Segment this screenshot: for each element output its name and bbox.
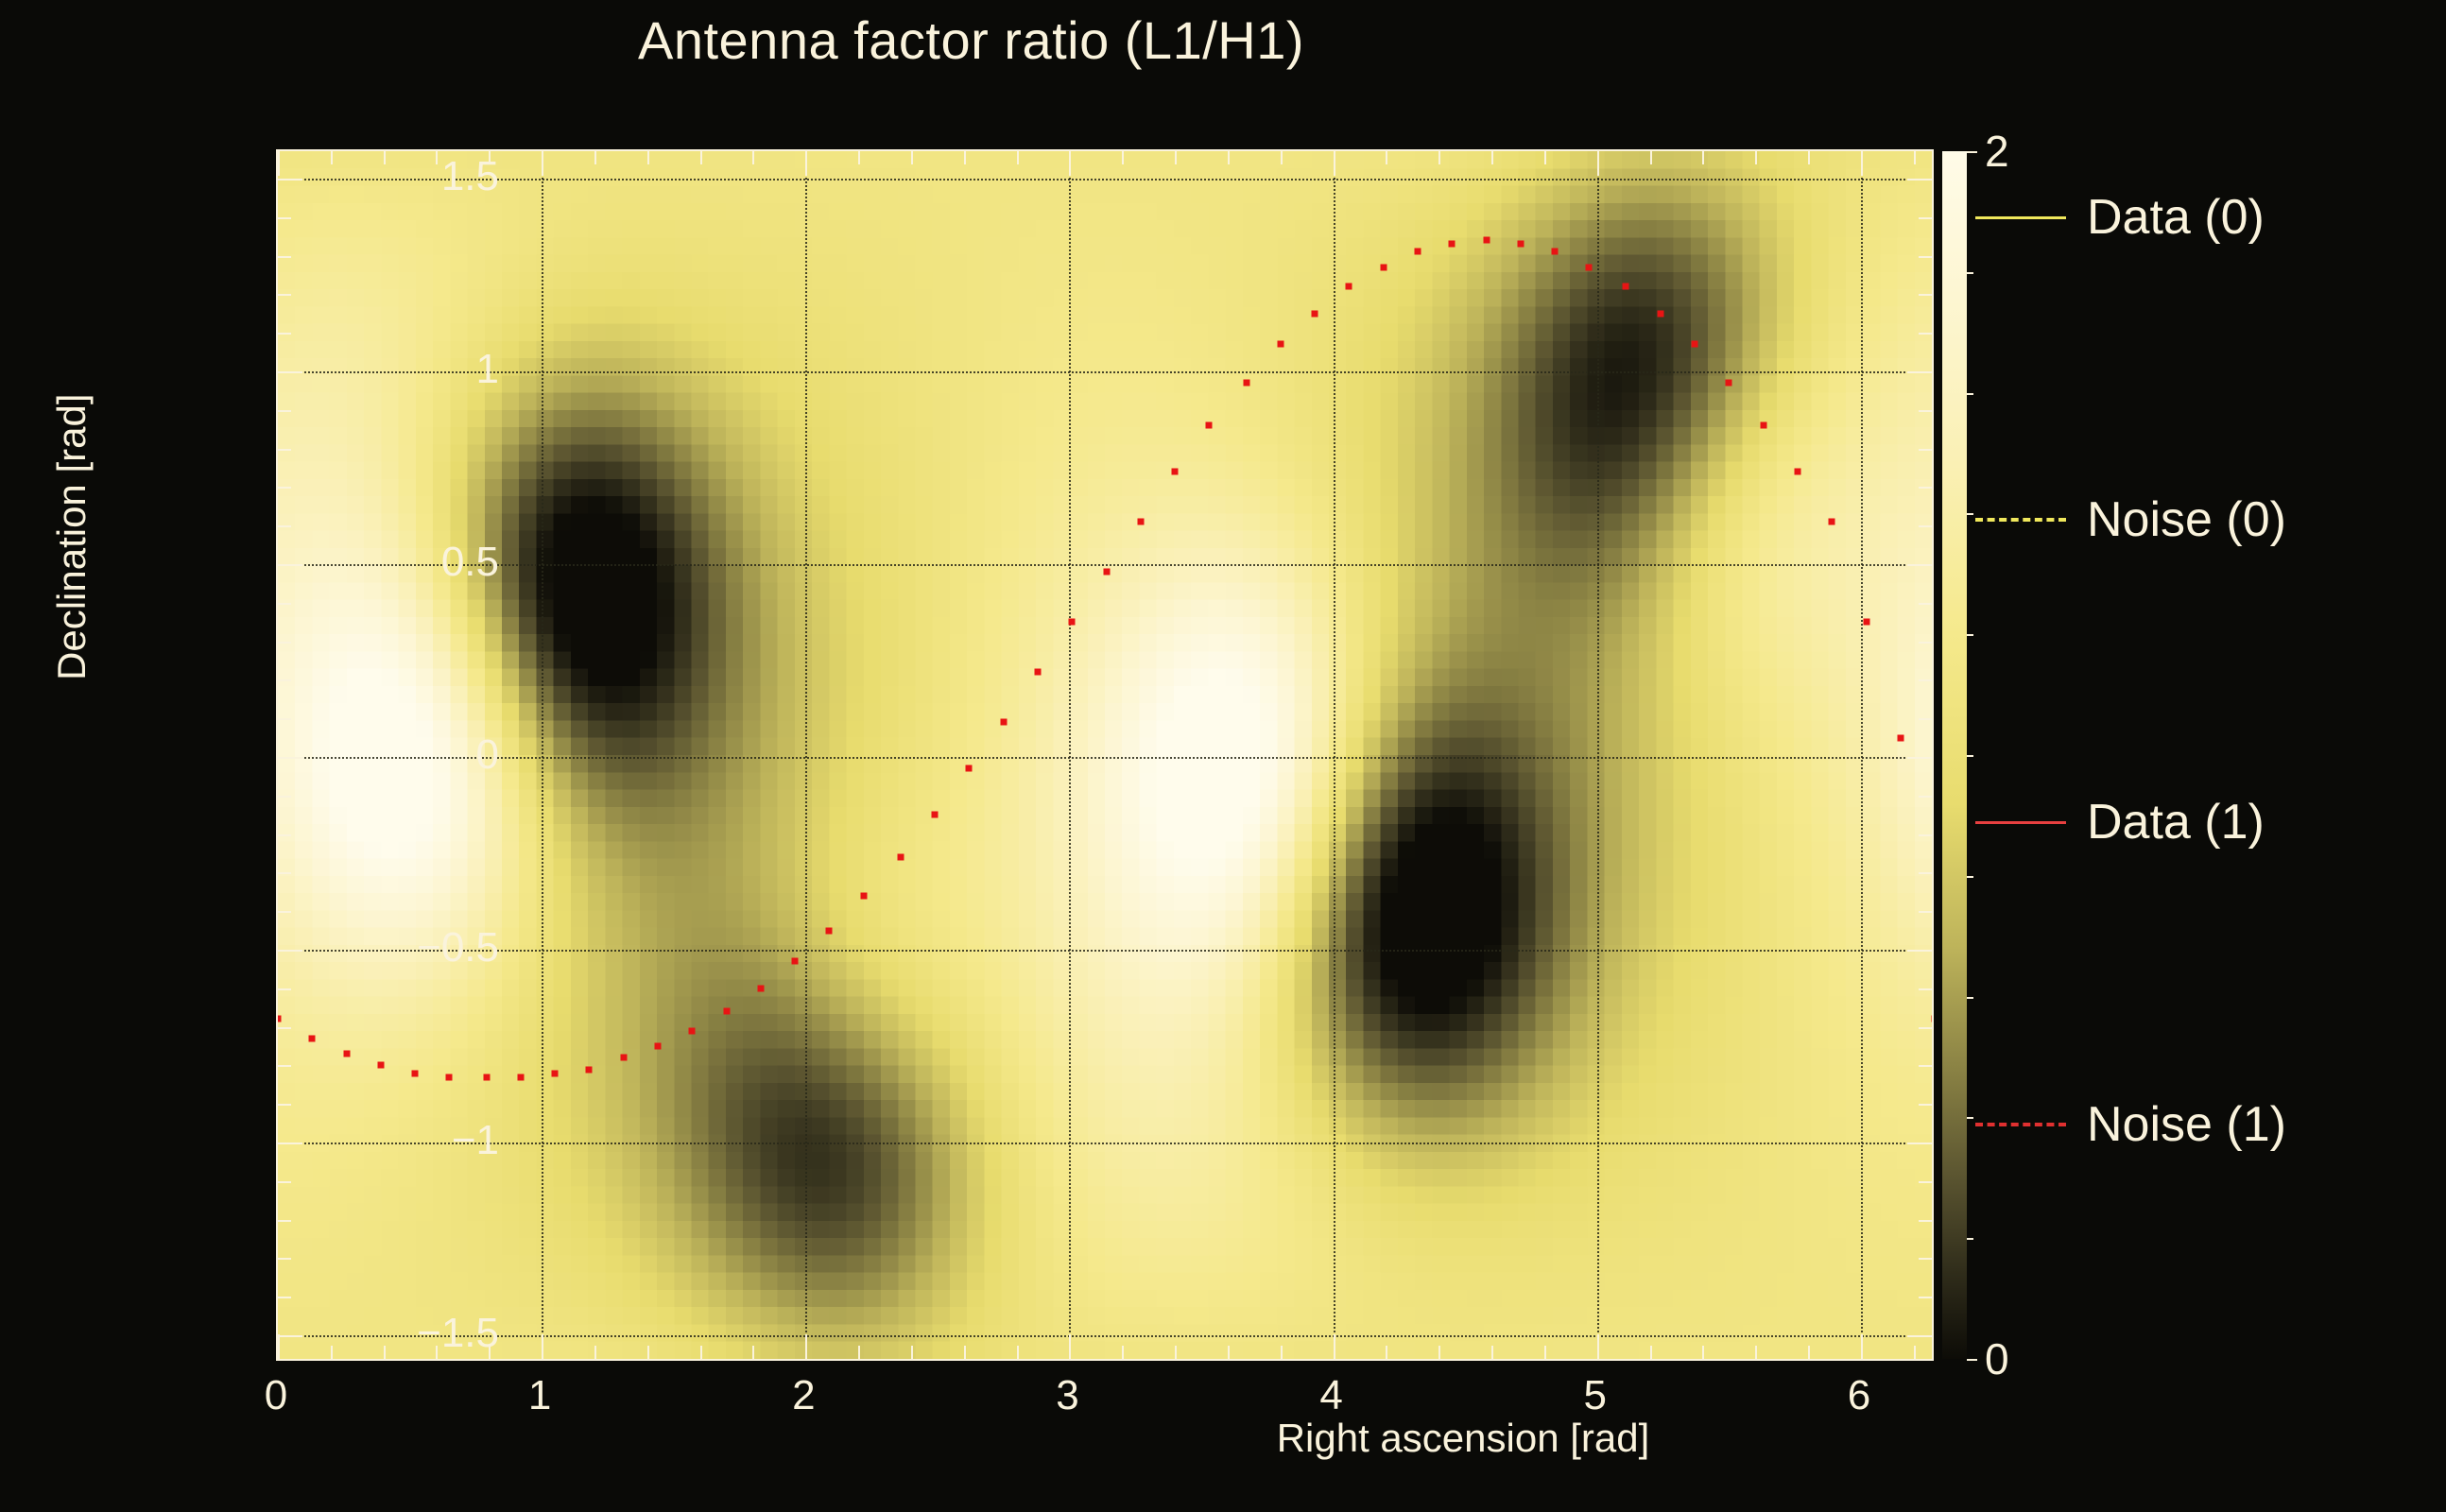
x-major-tick xyxy=(1597,1334,1599,1359)
colorbar-minor-tick xyxy=(1967,513,1973,515)
y-minor-tick xyxy=(1919,1027,1932,1029)
x-minor-tick xyxy=(1438,1346,1440,1359)
x-minor-tick xyxy=(1017,151,1019,164)
y-major-tick xyxy=(278,1335,302,1337)
x-minor-tick xyxy=(1491,1346,1493,1359)
y-minor-tick xyxy=(1919,525,1932,527)
y-major-tick xyxy=(1907,1335,1932,1337)
x-major-tick xyxy=(1597,151,1599,176)
curve-marker xyxy=(343,1051,350,1057)
y-minor-tick xyxy=(1919,487,1932,489)
y-major-tick xyxy=(1907,950,1932,952)
y-minor-tick xyxy=(1919,217,1932,219)
x-tick-label: 1 xyxy=(528,1372,551,1419)
x-major-tick xyxy=(1861,1334,1863,1359)
heatmap-image xyxy=(278,151,1932,1359)
y-minor-tick xyxy=(1919,1258,1932,1260)
x-major-tick xyxy=(805,1334,807,1359)
y-major-tick xyxy=(278,564,302,566)
x-minor-tick xyxy=(331,151,333,164)
curve-marker xyxy=(1932,1016,1934,1022)
legend-label: Noise (1) xyxy=(2087,1096,2286,1153)
curve-marker xyxy=(654,1043,661,1050)
y-minor-tick xyxy=(1919,410,1932,412)
x-minor-tick xyxy=(964,151,966,164)
x-tick-label: 3 xyxy=(1056,1372,1078,1419)
y-tick-label: 0.5 xyxy=(441,539,499,586)
x-minor-tick xyxy=(1122,151,1124,164)
x-minor-tick xyxy=(964,1346,966,1359)
curve-marker xyxy=(1206,422,1213,429)
x-minor-tick xyxy=(1175,1346,1177,1359)
x-minor-tick xyxy=(1228,151,1230,164)
y-minor-tick xyxy=(278,872,291,874)
curve-marker xyxy=(309,1035,316,1041)
x-major-tick xyxy=(542,151,543,176)
y-minor-tick xyxy=(1919,256,1932,258)
x-minor-tick xyxy=(384,1346,386,1359)
y-minor-tick xyxy=(1919,911,1932,913)
y-minor-tick xyxy=(1919,718,1932,720)
curve-marker xyxy=(1414,249,1421,255)
y-minor-tick xyxy=(278,642,291,644)
x-minor-tick xyxy=(384,151,386,164)
y-minor-tick xyxy=(278,1297,291,1298)
curve-marker xyxy=(1863,619,1869,626)
x-minor-tick xyxy=(1386,1346,1387,1359)
curve-marker xyxy=(1726,380,1732,387)
curve-marker xyxy=(1483,237,1490,244)
y-minor-tick xyxy=(278,525,291,527)
y-minor-tick xyxy=(278,796,291,798)
y-minor-tick xyxy=(1919,872,1932,874)
curve-marker xyxy=(1312,310,1318,317)
x-major-tick xyxy=(278,1334,280,1359)
x-minor-tick xyxy=(1755,151,1757,164)
y-minor-tick xyxy=(278,1220,291,1222)
y-minor-tick xyxy=(278,1027,291,1029)
x-tick-label: 5 xyxy=(1584,1372,1607,1419)
curve-marker xyxy=(552,1070,559,1076)
colorbar-minor-tick xyxy=(1967,876,1973,878)
colorbar-minor-tick xyxy=(1967,1117,1973,1119)
curve-marker xyxy=(966,765,973,772)
y-tick-label: 1.5 xyxy=(441,153,499,200)
legend-entry[interactable]: Data (0) xyxy=(1975,189,2420,246)
curve-marker xyxy=(932,812,939,818)
y-major-tick xyxy=(1907,757,1932,759)
curve-marker xyxy=(620,1055,627,1061)
curve-marker xyxy=(1346,283,1352,290)
curve-marker xyxy=(1623,283,1629,290)
x-minor-tick xyxy=(1491,151,1493,164)
x-major-tick xyxy=(542,1334,543,1359)
x-minor-tick xyxy=(700,151,702,164)
x-major-tick xyxy=(1334,151,1335,176)
x-major-tick xyxy=(1861,151,1863,176)
x-minor-tick xyxy=(1544,151,1546,164)
x-minor-tick xyxy=(1808,1346,1810,1359)
y-minor-tick xyxy=(1919,449,1932,451)
curve-marker xyxy=(1760,422,1766,429)
y-major-tick xyxy=(278,371,302,373)
colorbar-tick xyxy=(1967,1359,1977,1361)
y-tick-label: −0.5 xyxy=(417,924,499,971)
curve-marker xyxy=(1243,380,1249,387)
x-minor-tick xyxy=(858,1346,860,1359)
legend-entry[interactable]: Noise (0) xyxy=(1975,491,2420,548)
y-major-tick xyxy=(1907,1143,1932,1144)
y-minor-tick xyxy=(278,294,291,296)
colorbar-tick-label: 2 xyxy=(1985,126,2009,177)
plot-canvas: Antenna factor ratio (L1/H1) Declination… xyxy=(0,0,2446,1512)
x-minor-tick xyxy=(1386,151,1387,164)
y-major-tick xyxy=(1907,179,1932,180)
y-minor-tick xyxy=(278,1104,291,1106)
colorbar-minor-tick xyxy=(1967,393,1973,395)
x-minor-tick xyxy=(911,1346,913,1359)
curve-marker xyxy=(1586,264,1593,270)
curve-marker xyxy=(377,1062,384,1069)
curve-marker xyxy=(1137,519,1144,525)
x-minor-tick xyxy=(700,1346,702,1359)
curve-marker xyxy=(1277,341,1283,348)
y-minor-tick xyxy=(1919,603,1932,605)
x-minor-tick xyxy=(436,151,438,164)
y-axis-title: Declination [rad] xyxy=(49,151,93,680)
y-minor-tick xyxy=(278,449,291,451)
y-tick-label: 0 xyxy=(476,731,499,779)
y-minor-tick xyxy=(1919,834,1932,836)
x-minor-tick xyxy=(647,1346,649,1359)
y-minor-tick xyxy=(278,1181,291,1183)
x-minor-tick xyxy=(752,151,754,164)
heatmap-pixels xyxy=(278,151,1932,1359)
legend-entry[interactable]: Data (1) xyxy=(1975,794,2420,850)
y-minor-tick xyxy=(1919,1181,1932,1183)
colorbar-minor-tick xyxy=(1967,272,1973,274)
curve-marker xyxy=(1692,341,1698,348)
curve-marker xyxy=(723,1008,730,1015)
x-minor-tick xyxy=(594,1346,596,1359)
y-major-tick xyxy=(1907,564,1932,566)
x-minor-tick xyxy=(911,151,913,164)
curve-marker xyxy=(1517,241,1524,248)
plot-frame xyxy=(276,149,1934,1361)
x-major-tick xyxy=(1069,151,1071,176)
y-minor-tick xyxy=(278,911,291,913)
y-minor-tick xyxy=(278,1065,291,1067)
x-minor-tick xyxy=(594,151,596,164)
y-tick-label: 1 xyxy=(476,346,499,393)
y-minor-tick xyxy=(1919,294,1932,296)
colorbar xyxy=(1942,151,1967,1359)
colorbar-minor-tick xyxy=(1967,1238,1973,1240)
y-minor-tick xyxy=(1919,642,1932,644)
y-major-tick xyxy=(1907,371,1932,373)
y-major-tick xyxy=(278,950,302,952)
y-minor-tick xyxy=(278,410,291,412)
x-minor-tick xyxy=(1914,1346,1916,1359)
y-minor-tick xyxy=(278,217,291,219)
legend-label: Data (1) xyxy=(2087,794,2265,850)
curve-marker xyxy=(1552,249,1559,255)
curve-marker xyxy=(412,1070,419,1076)
x-minor-tick xyxy=(752,1346,754,1359)
x-minor-tick xyxy=(1228,1346,1230,1359)
legend: Data (0)Noise (0)Data (1)Noise (1) xyxy=(1975,189,2420,1304)
x-minor-tick xyxy=(1122,1346,1124,1359)
x-major-tick xyxy=(805,151,807,176)
curve-marker xyxy=(1829,519,1835,525)
curve-marker xyxy=(586,1066,593,1073)
curve-marker xyxy=(1069,619,1076,626)
y-minor-tick xyxy=(1919,1297,1932,1298)
x-major-tick xyxy=(278,151,280,176)
y-minor-tick xyxy=(1919,988,1932,990)
legend-label: Noise (0) xyxy=(2087,491,2286,548)
colorbar-tick-label: 0 xyxy=(1985,1333,2009,1384)
x-minor-tick xyxy=(1914,151,1916,164)
legend-line-swatch xyxy=(1975,518,2066,522)
curve-marker xyxy=(1897,734,1903,741)
legend-line-swatch xyxy=(1975,1123,2066,1126)
y-minor-tick xyxy=(278,1258,291,1260)
curve-marker xyxy=(1000,719,1007,726)
curve-marker xyxy=(1172,469,1179,475)
x-major-tick xyxy=(1334,1334,1335,1359)
legend-label: Data (0) xyxy=(2087,189,2265,246)
curve-marker xyxy=(897,854,904,861)
x-minor-tick xyxy=(1702,151,1704,164)
x-minor-tick xyxy=(858,151,860,164)
curve-marker xyxy=(446,1074,453,1080)
legend-line-swatch xyxy=(1975,821,2066,824)
curve-marker xyxy=(276,1016,282,1022)
y-minor-tick xyxy=(278,603,291,605)
x-minor-tick xyxy=(1702,1346,1704,1359)
y-minor-tick xyxy=(278,834,291,836)
x-minor-tick xyxy=(1650,1346,1652,1359)
x-minor-tick xyxy=(1175,151,1177,164)
colorbar-minor-tick xyxy=(1967,755,1973,757)
x-tick-label: 6 xyxy=(1848,1372,1870,1419)
legend-entry[interactable]: Noise (1) xyxy=(1975,1096,2420,1153)
x-tick-label: 4 xyxy=(1319,1372,1342,1419)
curve-marker xyxy=(792,958,799,965)
y-minor-tick xyxy=(278,333,291,335)
x-minor-tick xyxy=(1438,151,1440,164)
y-major-tick xyxy=(278,757,302,759)
x-minor-tick xyxy=(1755,1346,1757,1359)
curve-marker xyxy=(517,1074,524,1080)
y-minor-tick xyxy=(278,256,291,258)
colorbar-tick xyxy=(1967,151,1977,153)
y-minor-tick xyxy=(278,988,291,990)
x-minor-tick xyxy=(1544,1346,1546,1359)
x-minor-tick xyxy=(1281,1346,1283,1359)
curve-marker xyxy=(1380,264,1387,270)
chart-title: Antenna factor ratio (L1/H1) xyxy=(0,9,1942,71)
y-minor-tick xyxy=(1919,333,1932,335)
x-minor-tick xyxy=(1281,151,1283,164)
curve-marker xyxy=(860,892,867,899)
curve-marker xyxy=(1103,569,1110,576)
curve-marker xyxy=(483,1074,490,1080)
y-tick-label: −1 xyxy=(452,1117,499,1164)
y-major-tick xyxy=(278,1143,302,1144)
curve-marker xyxy=(689,1027,696,1034)
legend-line-swatch xyxy=(1975,216,2066,219)
y-minor-tick xyxy=(278,679,291,681)
x-minor-tick xyxy=(1808,151,1810,164)
y-tick-label: −1.5 xyxy=(417,1310,499,1357)
x-major-tick xyxy=(1069,1334,1071,1359)
curve-marker xyxy=(757,985,764,991)
y-minor-tick xyxy=(1919,1104,1932,1106)
curve-marker xyxy=(1034,669,1041,676)
curve-marker xyxy=(1449,241,1456,248)
y-minor-tick xyxy=(1919,796,1932,798)
y-major-tick xyxy=(278,179,302,180)
x-minor-tick xyxy=(647,151,649,164)
y-minor-tick xyxy=(1919,679,1932,681)
y-minor-tick xyxy=(1919,1065,1932,1067)
x-tick-label: 0 xyxy=(265,1372,287,1419)
x-tick-label: 2 xyxy=(792,1372,815,1419)
x-minor-tick xyxy=(1017,1346,1019,1359)
x-axis-title: Right ascension [rad] xyxy=(1277,1416,1650,1461)
x-minor-tick xyxy=(331,1346,333,1359)
curve-marker xyxy=(826,927,833,934)
curve-marker xyxy=(1657,310,1663,317)
y-minor-tick xyxy=(278,718,291,720)
y-minor-tick xyxy=(278,487,291,489)
colorbar-minor-tick xyxy=(1967,634,1973,636)
colorbar-minor-tick xyxy=(1967,997,1973,999)
curve-marker xyxy=(1794,469,1800,475)
x-minor-tick xyxy=(1650,151,1652,164)
y-minor-tick xyxy=(1919,1220,1932,1222)
